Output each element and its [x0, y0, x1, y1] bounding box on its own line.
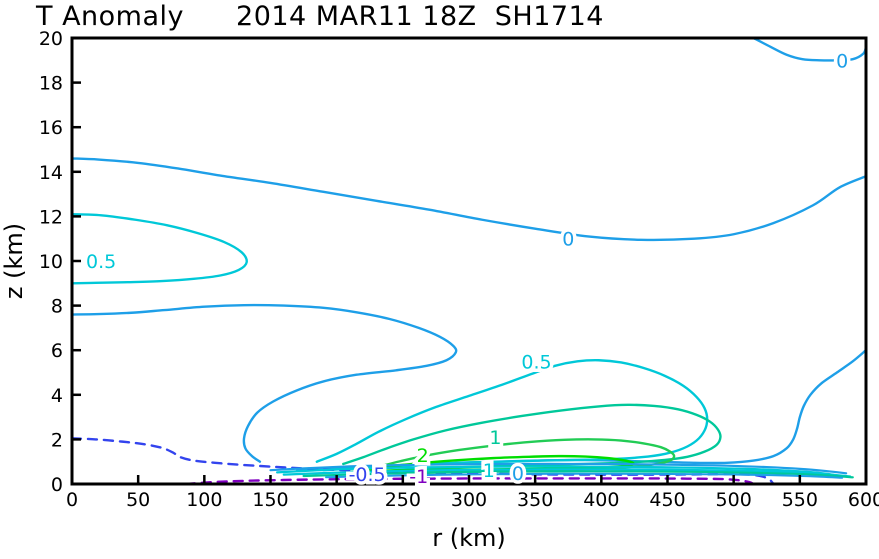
- contour-label: 0.50.5: [521, 351, 551, 373]
- contour-label-text: 0.5: [521, 351, 551, 373]
- y-tick-label: 16: [39, 117, 63, 139]
- contour-label-text: -0.5: [349, 464, 386, 486]
- x-tick-label: 250: [385, 489, 421, 511]
- y-tick-label: 20: [39, 28, 63, 50]
- x-tick-label: 150: [252, 489, 288, 511]
- y-tick-label: 0: [51, 474, 63, 496]
- contour-label: 22: [417, 445, 429, 467]
- x-tick-label: 200: [319, 489, 355, 511]
- contour-line-0: [297, 350, 866, 470]
- contour-label-text: 0.5: [86, 251, 116, 273]
- x-tick-label: 600: [848, 489, 879, 511]
- y-tick-label: 6: [51, 340, 63, 362]
- plot-canvas: 0501001502002503003504004505005506000246…: [0, 0, 879, 559]
- contour-label-text: 2: [417, 445, 429, 467]
- y-axis-title: z (km): [0, 223, 28, 299]
- plot-frame: [72, 38, 866, 484]
- contour-label-text: -1: [409, 466, 428, 488]
- x-axis-title: r (km): [432, 524, 506, 552]
- contour-label: 00: [512, 463, 524, 485]
- y-tick-label: 2: [51, 429, 63, 451]
- contour-labels-group: 0.50.500000.50.51122-0.5-0.5-1-11100: [86, 50, 848, 488]
- contour-label: 00: [562, 229, 574, 251]
- contour-label: -1-1: [409, 466, 428, 488]
- y-tick-label: 14: [39, 162, 63, 184]
- contour-label-text: 1: [489, 427, 501, 449]
- contour-line-0: [754, 38, 866, 60]
- contour-label: 11: [489, 427, 501, 449]
- contour-label: -0.5-0.5: [349, 464, 386, 486]
- contour-lines-group: [72, 38, 866, 484]
- x-tick-label: 500: [716, 489, 752, 511]
- axis-tick-labels-group: 0501001502002503003504004505005506000246…: [39, 28, 879, 511]
- contour-line-0: [72, 158, 866, 240]
- x-tick-label: 100: [186, 489, 222, 511]
- y-tick-label: 10: [39, 251, 63, 273]
- contour-label-text: 0: [836, 50, 848, 72]
- y-tick-label: 8: [51, 296, 63, 318]
- x-tick-label: 0: [66, 489, 78, 511]
- y-tick-label: 18: [39, 73, 63, 95]
- x-tick-label: 550: [782, 489, 818, 511]
- x-tick-label: 450: [649, 489, 685, 511]
- contour-line-0: [72, 305, 456, 462]
- contour-label-text: 0: [512, 463, 524, 485]
- x-tick-label: 50: [126, 489, 150, 511]
- contour-plot-figure: T Anomaly 2014 MAR11 18Z SH1714 05010015…: [0, 0, 879, 559]
- x-tick-label: 350: [517, 489, 553, 511]
- contour-label-text: 0: [562, 229, 574, 251]
- x-tick-label: 300: [451, 489, 487, 511]
- contour-label: 00: [836, 50, 848, 72]
- y-tick-label: 4: [51, 385, 63, 407]
- contour-label: 11: [483, 460, 495, 482]
- contour-label: 0.50.5: [86, 251, 116, 273]
- x-tick-label: 400: [583, 489, 619, 511]
- axis-ticks-group: [72, 38, 866, 484]
- contour-label-text: 1: [483, 460, 495, 482]
- y-tick-label: 12: [39, 206, 63, 228]
